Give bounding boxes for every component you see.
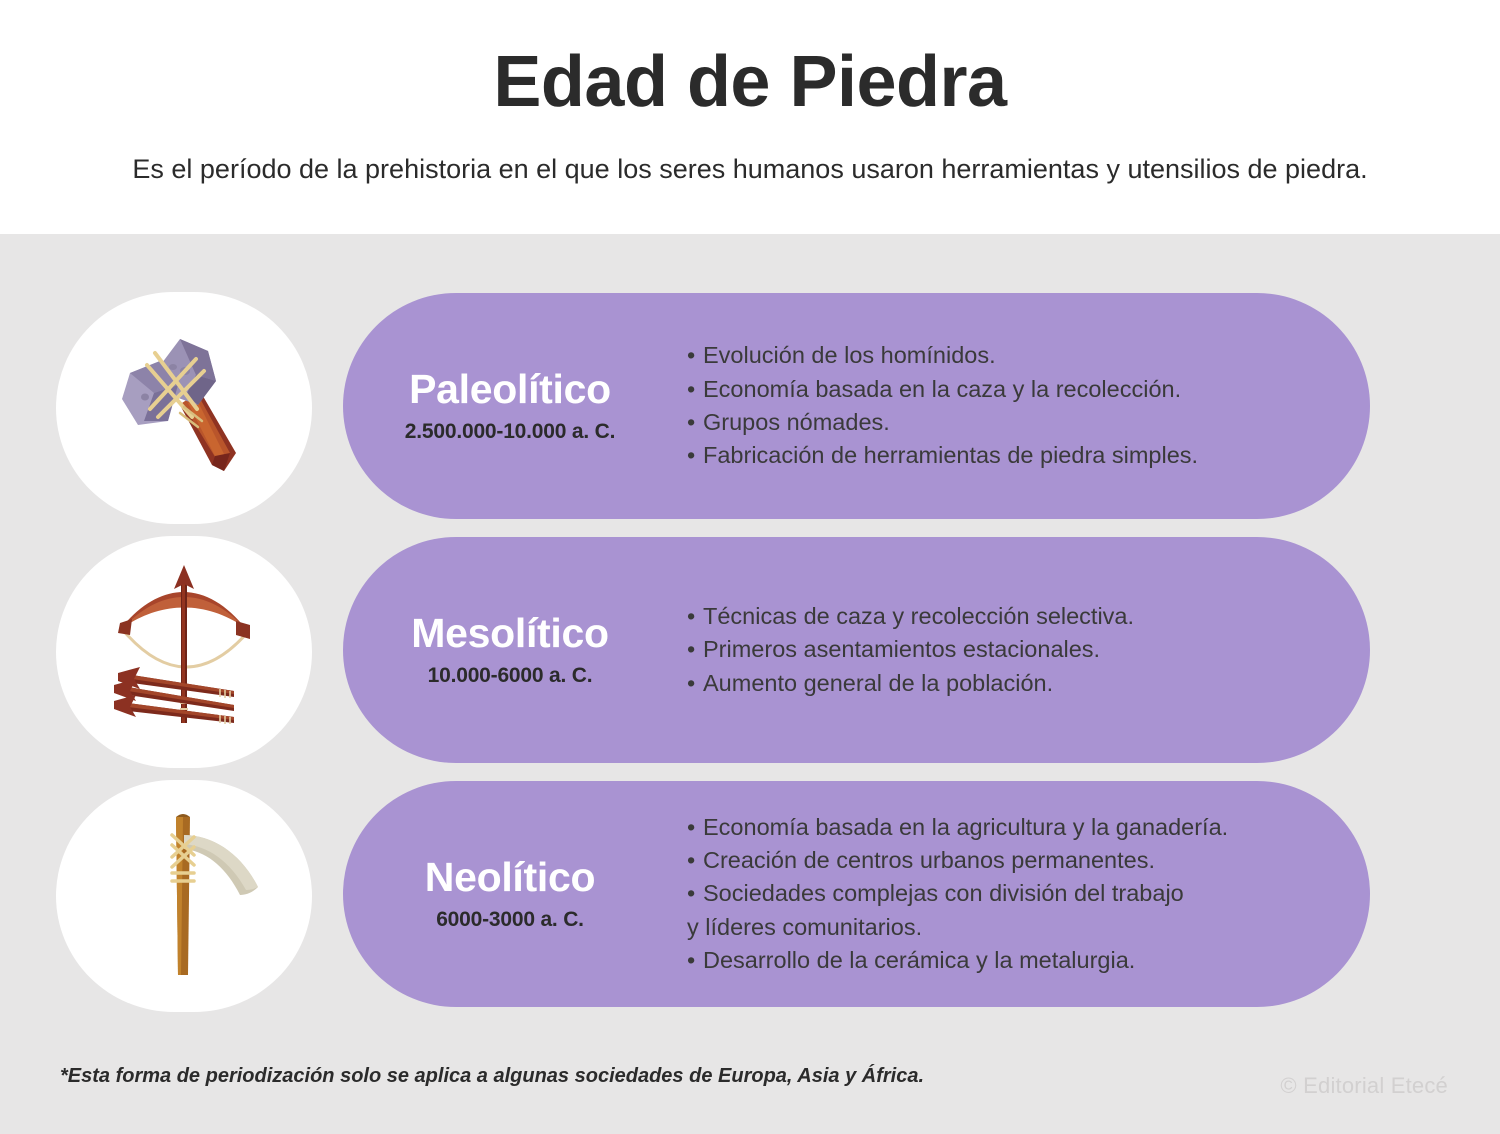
list-item: •Creación de centros urbanos permanentes… <box>687 844 1228 877</box>
sickle-icon <box>56 780 312 1012</box>
list-item-text: Primeros asentamientos estacionales. <box>703 636 1100 662</box>
list-item-text: Técnicas de caza y recolección selectiva… <box>703 603 1134 629</box>
page-subtitle: Es el período de la prehistoria en el qu… <box>0 154 1500 185</box>
era-pill: Paleolítico 2.500.000-10.000 a. C. •Evol… <box>343 293 1370 519</box>
list-item-text: Fabricación de herramientas de piedra si… <box>703 442 1198 468</box>
bullet-dot: • <box>687 406 703 439</box>
era-dates: 2.500.000-10.000 a. C. <box>365 420 655 444</box>
era-dates: 6000-3000 a. C. <box>365 908 655 932</box>
list-item: •Fabricación de herramientas de piedra s… <box>687 439 1198 472</box>
list-item: •Aumento general de la población. <box>687 667 1134 700</box>
list-item-text: y líderes comunitarios. <box>687 914 922 940</box>
infographic-page: Edad de Piedra Es el período de la prehi… <box>0 0 1500 1134</box>
list-item: •Técnicas de caza y recolección selectiv… <box>687 600 1134 633</box>
era-label-column: Paleolítico 2.500.000-10.000 a. C. <box>365 368 655 444</box>
era-pill: Neolítico 6000-3000 a. C. •Economía basa… <box>343 781 1370 1007</box>
list-item: •Sociedades complejas con división del t… <box>687 877 1228 910</box>
bullet-dot: • <box>687 667 703 700</box>
era-row-neolitico: Neolítico 6000-3000 a. C. •Economía basa… <box>0 780 1500 1012</box>
list-item: •Grupos nómades. <box>687 406 1198 439</box>
list-item: •Evolución de los homínidos. <box>687 339 1198 372</box>
bullet-dot: • <box>687 600 703 633</box>
stone-hammer-icon <box>56 292 312 524</box>
bullet-dot: • <box>687 811 703 844</box>
era-bullet-list: •Economía basada en la agricultura y la … <box>687 811 1228 978</box>
bullet-dot: • <box>687 877 703 910</box>
era-row-mesolitico: Mesolítico 10.000-6000 a. C. •Técnicas d… <box>0 536 1500 768</box>
footnote: *Esta forma de periodización solo se apl… <box>60 1065 924 1088</box>
list-item-text: Desarrollo de la cerámica y la metalurgi… <box>703 947 1135 973</box>
list-item-text: Grupos nómades. <box>703 409 890 435</box>
list-item-text: Economía basada en la agricultura y la g… <box>703 814 1228 840</box>
era-name: Paleolítico <box>365 368 655 411</box>
era-bullet-list: •Técnicas de caza y recolección selectiv… <box>687 600 1134 700</box>
bullet-dot: • <box>687 633 703 666</box>
era-label-column: Mesolítico 10.000-6000 a. C. <box>365 612 655 688</box>
bow-and-arrows-icon <box>56 536 312 768</box>
header: Edad de Piedra Es el período de la prehi… <box>0 0 1500 234</box>
list-item: •Economía basada en la caza y la recolec… <box>687 373 1198 406</box>
content-panel: Paleolítico 2.500.000-10.000 a. C. •Evol… <box>0 234 1500 1134</box>
era-dates: 10.000-6000 a. C. <box>365 664 655 688</box>
list-item-text: Evolución de los homínidos. <box>703 342 996 368</box>
list-item: •Desarrollo de la cerámica y la metalurg… <box>687 944 1228 977</box>
bullet-dot: • <box>687 844 703 877</box>
era-name: Mesolítico <box>365 612 655 655</box>
bullet-dot: • <box>687 373 703 406</box>
list-item: •Primeros asentamientos estacionales. <box>687 633 1134 666</box>
watermark: © Editorial Etecé <box>1280 1073 1448 1099</box>
bullet-dot: • <box>687 339 703 372</box>
list-item-text: Economía basada en la caza y la recolecc… <box>703 376 1181 402</box>
bullet-dot: • <box>687 439 703 472</box>
era-pill: Mesolítico 10.000-6000 a. C. •Técnicas d… <box>343 537 1370 763</box>
bullet-dot: • <box>687 944 703 977</box>
page-title: Edad de Piedra <box>0 46 1500 118</box>
list-item-text: Aumento general de la población. <box>703 670 1053 696</box>
list-item: •Economía basada en la agricultura y la … <box>687 811 1228 844</box>
list-item-text: Sociedades complejas con división del tr… <box>703 880 1184 906</box>
list-item-continuation: y líderes comunitarios. <box>687 911 1228 944</box>
era-name: Neolítico <box>365 856 655 899</box>
list-item-text: Creación de centros urbanos permanentes. <box>703 847 1155 873</box>
era-bullet-list: •Evolución de los homínidos. •Economía b… <box>687 339 1198 472</box>
era-label-column: Neolítico 6000-3000 a. C. <box>365 856 655 932</box>
era-row-paleolitico: Paleolítico 2.500.000-10.000 a. C. •Evol… <box>0 292 1500 524</box>
